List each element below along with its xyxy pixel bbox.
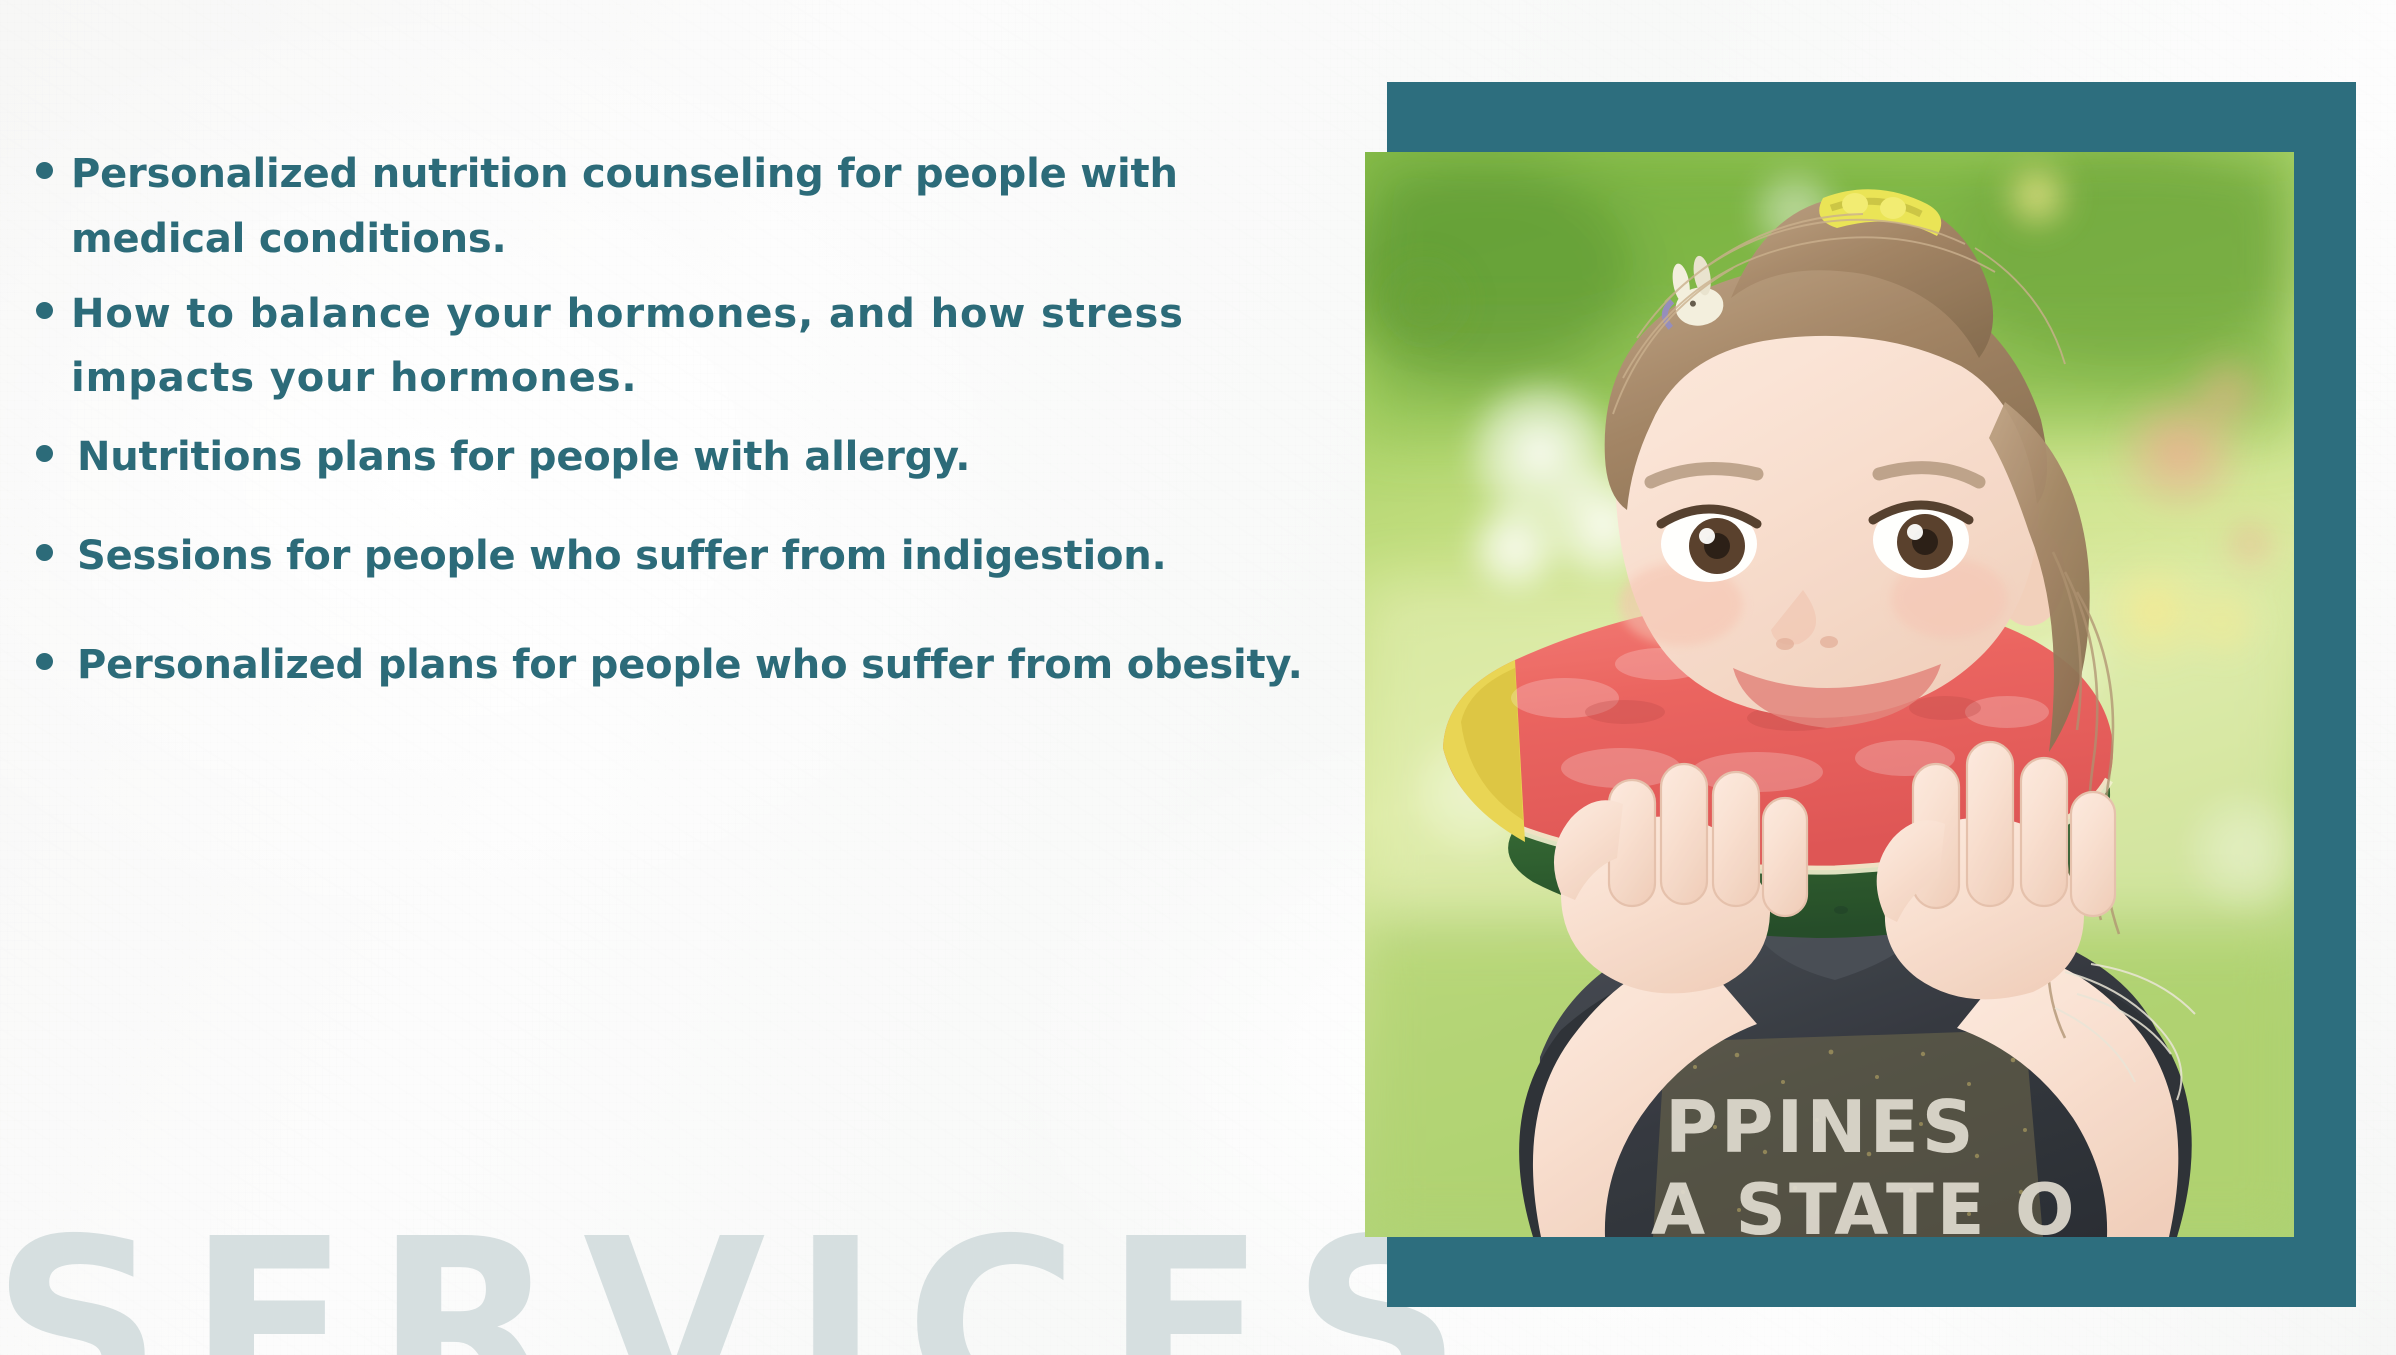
child-eating-watermelon-photo: PPINES A STATE O [1365, 152, 2294, 1237]
bullet-text: Personalized nutrition counseling for pe… [71, 142, 1326, 272]
bullet-text: Sessions for people who suffer from indi… [71, 524, 1167, 589]
list-item[interactable]: How to balance your hormones, and how st… [36, 282, 1326, 412]
bullet-dot-icon [36, 445, 53, 462]
list-item[interactable]: Personalized plans for people who suffer… [36, 633, 1326, 698]
services-bullet-list: Personalized nutrition counseling for pe… [36, 142, 1326, 722]
slide-canvas: Personalized nutrition counseling for pe… [0, 0, 2396, 1355]
bullet-text: How to balance your hormones, and how st… [71, 282, 1326, 412]
bullet-dot-icon [36, 544, 53, 561]
list-item[interactable]: Nutritions plans for people with allergy… [36, 425, 1326, 490]
bullet-text: Personalized plans for people who suffer… [71, 633, 1303, 698]
bullet-dot-icon [36, 302, 53, 319]
bullet-dot-icon [36, 653, 53, 670]
bullet-text: Nutritions plans for people with allergy… [71, 425, 970, 490]
list-item[interactable]: Personalized nutrition counseling for pe… [36, 142, 1326, 272]
list-item[interactable]: Sessions for people who suffer from indi… [36, 524, 1326, 589]
bullet-dot-icon [36, 162, 53, 179]
section-watermark-title: SERVICES [0, 1208, 1488, 1355]
